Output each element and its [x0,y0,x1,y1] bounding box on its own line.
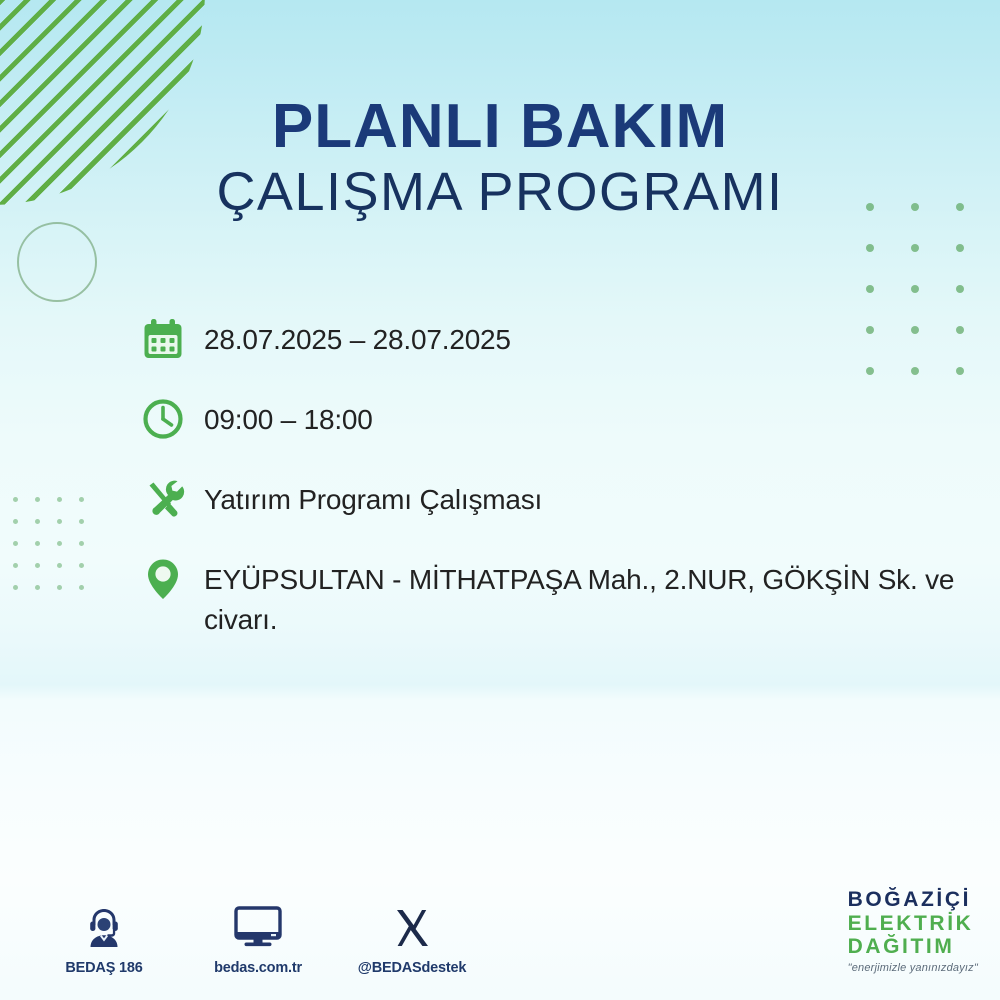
poster-header: PLANLI BAKIM ÇALIŞMA PROGRAMI [0,96,1000,219]
contact-website-label: bedas.com.tr [214,960,302,976]
contact-phone-label: BEDAŞ 186 [65,960,142,976]
headset-agent-icon [80,899,128,951]
detail-row-location: EYÜPSULTAN - MİTHATPAŞA Mah., 2.NUR, GÖK… [136,552,986,640]
brand-line-bogazici: BOĞAZİÇİ [848,888,978,912]
contact-channels: BEDAŞ 186 bedas.com.tr [48,899,468,976]
outage-details: 28.07.2025 – 28.07.2025 09:00 – 18:00 [136,312,986,640]
outage-work-type: Yatırım Programı Çalışması [204,472,542,520]
contact-website[interactable]: bedas.com.tr [202,899,314,976]
calendar-icon [136,312,190,366]
page-subtitle: ÇALIŞMA PROGRAMI [0,165,1000,219]
contact-x-label: @BEDASdestek [358,960,466,976]
bedas-logo: BOĞAZİÇİ ELEKTRİK DAĞITIM "enerjimizle y… [848,888,978,974]
outage-date: 28.07.2025 – 28.07.2025 [204,312,511,360]
planned-maintenance-poster: PLANLI BAKIM ÇALIŞMA PROGRAMI [0,0,1000,1000]
poster-footer: BEDAŞ 186 bedas.com.tr [0,882,1000,982]
outage-time: 09:00 – 18:00 [204,392,373,440]
outage-location: EYÜPSULTAN - MİTHATPAŞA Mah., 2.NUR, GÖK… [204,552,986,640]
map-pin-icon [136,552,190,606]
detail-row-time: 09:00 – 18:00 [136,392,986,446]
contact-phone[interactable]: BEDAŞ 186 [48,899,160,976]
brand-tagline: "enerjimizle yanınızdayız" [848,962,978,974]
dot-grid-left-decoration [13,497,84,590]
brand-line-dagitim: DAĞITIM [848,935,978,959]
detail-row-work-type: Yatırım Programı Çalışması [136,472,986,526]
monitor-icon [230,899,286,951]
tools-icon [136,472,190,526]
clock-icon [136,392,190,446]
page-title: PLANLI BAKIM [0,96,1000,158]
x-twitter-icon [389,899,435,951]
detail-row-date: 28.07.2025 – 28.07.2025 [136,312,986,366]
brand-line-elektrik: ELEKTRİK [848,912,978,936]
circle-outline-decoration [17,222,97,302]
contact-x-social[interactable]: @BEDASdestek [356,899,468,976]
